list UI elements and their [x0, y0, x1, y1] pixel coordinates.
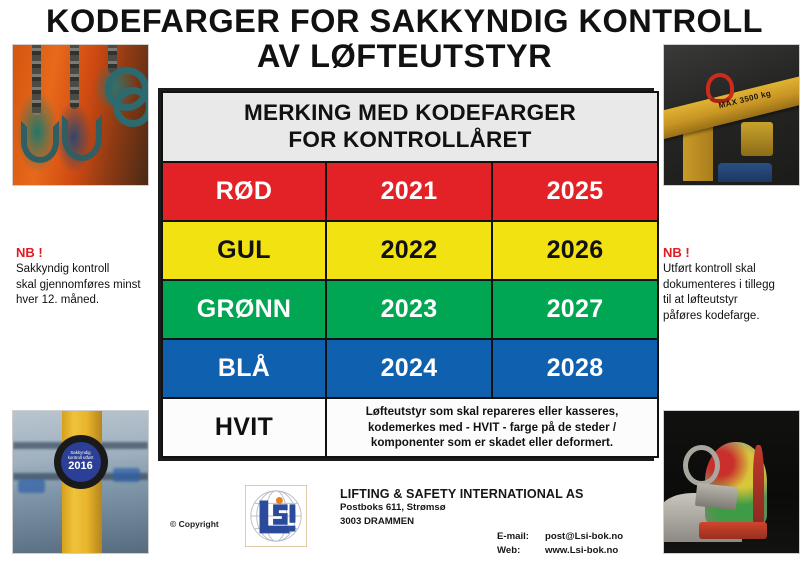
code-colour-table-grid: MERKING MED KODEFARGER FOR KONTROLLÅRET … [161, 91, 659, 458]
web-value[interactable]: www.Lsi-bok.no [545, 544, 618, 558]
row-colour-name-yellow: GUL [162, 221, 326, 280]
sticker-year: 2016 [68, 461, 92, 473]
row-year-b-green: 2027 [492, 280, 658, 339]
contact-row-email: E-mail: post@Lsi-bok.no [497, 530, 623, 544]
company-info: LIFTING & SAFETY INTERNATIONAL AS Postbo… [340, 487, 584, 528]
clamp-edge [753, 445, 764, 525]
chain-icon [108, 44, 117, 73]
title-line-1: KODEFARGER FOR SAKKYNDIG KONTROLL [0, 4, 809, 39]
clamp-jaw [695, 483, 738, 510]
photo-lifting-beam: MAX 3500 kg [663, 44, 800, 186]
row-year-a-green: 2023 [326, 280, 492, 339]
note-right-line-1: Utført kontroll skal [663, 262, 805, 277]
shackle-icon [21, 121, 59, 163]
row-year-a-blue: 2024 [326, 339, 492, 398]
note-left-heading: NB ! [16, 244, 156, 261]
eyebolt-icon [113, 87, 149, 127]
contact-row-web: Web: www.Lsi-bok.no [497, 544, 623, 558]
clamp-handle [683, 445, 720, 486]
photo-plate-clamp [663, 410, 800, 554]
note-left-line-3: hver 12. måned. [16, 293, 156, 308]
email-label: E-mail: [497, 530, 545, 544]
background-blue-shape [18, 479, 45, 493]
white-note-line-3: komponenter som er skadet eller deformer… [327, 435, 657, 451]
clamp-base [699, 522, 767, 539]
white-note-line-1: Løfteutstyr som skal repareres eller kas… [327, 404, 657, 420]
email-value[interactable]: post@Lsi-bok.no [545, 530, 623, 544]
table-row: BLÅ 2024 2028 [162, 339, 658, 398]
background-blue-shape [113, 468, 140, 482]
company-name: LIFTING & SAFETY INTERNATIONAL AS [340, 487, 584, 501]
note-right-line-4: påføres kodefarge. [663, 309, 805, 324]
note-left: NB ! Sakkyndig kontroll skal gjennomføre… [16, 244, 156, 309]
inspection-sticker-core: Sakkyndig kontroll utført 2016 [61, 442, 101, 482]
table-header-cell: MERKING MED KODEFARGER FOR KONTROLLÅRET [162, 92, 658, 162]
note-left-line-2: skal gjennomføres minst [16, 278, 156, 293]
lsi-logo [245, 485, 307, 547]
row-year-b-red: 2025 [492, 162, 658, 221]
row-colour-name-green: GRØNN [162, 280, 326, 339]
row-white-note: Løfteutstyr som skal repareres eller kas… [326, 398, 658, 457]
note-right-line-3: til at løfteutstyr [663, 293, 805, 308]
copyright-text: © Copyright [170, 519, 219, 529]
table-header-line-2: FOR KONTROLLÅRET [163, 127, 657, 154]
row-year-b-yellow: 2026 [492, 221, 658, 280]
table-header-line-1: MERKING MED KODEFARGER [163, 100, 657, 127]
contact-info: E-mail: post@Lsi-bok.no Web: www.Lsi-bok… [497, 530, 623, 557]
table-row: GRØNN 2023 2027 [162, 280, 658, 339]
white-note-line-2: kodemerkes med - HVIT - farge på de sted… [327, 420, 657, 436]
row-colour-name-blue: BLÅ [162, 339, 326, 398]
code-colour-table: MERKING MED KODEFARGER FOR KONTROLLÅRET … [158, 88, 654, 461]
row-year-a-yellow: 2022 [326, 221, 492, 280]
web-label: Web: [497, 544, 545, 558]
photo-lifting-beam-image: MAX 3500 kg [664, 45, 799, 185]
photo-shackles-image [13, 45, 148, 185]
photo-shackles-and-eyebolts [12, 44, 149, 186]
table-row-white: HVIT Løfteutstyr som skal repareres elle… [162, 398, 658, 457]
photo-plate-clamp-image [664, 411, 799, 553]
beam-barrel [718, 163, 772, 183]
table-row: GUL 2022 2026 [162, 221, 658, 280]
row-year-a-red: 2021 [326, 162, 492, 221]
photo-inspection-sticker: Sakkyndig kontroll utført 2016 [12, 410, 149, 554]
company-address-line-2: 3003 DRAMMEN [340, 515, 584, 529]
inspection-sticker: Sakkyndig kontroll utført 2016 [54, 435, 108, 489]
lsi-logo-graphic [246, 486, 306, 546]
note-right: NB ! Utført kontroll skal dokumenteres i… [663, 244, 805, 324]
poster-root: KODEFARGER FOR SAKKYNDIG KONTROLL AV LØF… [0, 0, 809, 562]
row-colour-name-white: HVIT [162, 398, 326, 457]
note-left-line-1: Sakkyndig kontroll [16, 262, 156, 277]
shackle-icon [62, 115, 102, 161]
row-colour-name-red: RØD [162, 162, 326, 221]
note-right-line-2: dokumenteres i tillegg [663, 278, 805, 293]
photo-inspection-sticker-image: Sakkyndig kontroll utført 2016 [13, 411, 148, 553]
chain-icon [70, 44, 79, 109]
table-row: RØD 2021 2025 [162, 162, 658, 221]
chain-icon [32, 44, 41, 115]
note-right-heading: NB ! [663, 244, 805, 261]
row-year-b-blue: 2028 [492, 339, 658, 398]
table-header-row: MERKING MED KODEFARGER FOR KONTROLLÅRET [162, 92, 658, 162]
company-address-line-1: Postboks 611, Strømsø [340, 501, 584, 515]
beam-drum [741, 122, 773, 156]
